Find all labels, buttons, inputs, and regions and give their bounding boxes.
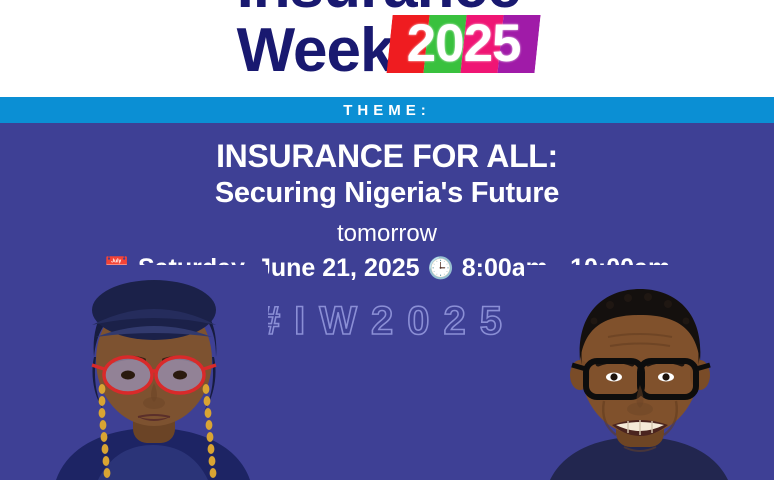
theme-title: INSURANCE FOR ALL: Securing Nigeria's Fu… [0,138,774,210]
logo-second-line: Week 2025 [237,15,538,77]
logo-word-week: Week [237,26,394,77]
logo-year-badge: 2025 [386,15,540,73]
speaker-portrait-left [38,265,268,480]
portrait-right-graphic [524,265,754,480]
portrait-left-graphic [38,265,268,480]
relative-day-label: tomorrow [0,220,774,248]
theme-title-line2: Securing Nigeria's Future [0,176,774,210]
speaker-portrait-right [524,265,754,480]
theme-strip: THEME: [0,97,774,123]
theme-title-line1: INSURANCE FOR ALL: [216,138,558,174]
logo-word-insurance: Insurance [237,0,521,13]
logo-year-text: 2025 [389,15,537,73]
theme-strip-label: THEME: [343,102,431,119]
event-flyer: Insurance Week 2025 THEME: INSURANC [0,0,774,480]
logo-band: Insurance Week 2025 [0,0,774,97]
clock-icon: 🕒 [428,258,454,279]
insurance-week-logo: Insurance Week 2025 [237,0,538,77]
